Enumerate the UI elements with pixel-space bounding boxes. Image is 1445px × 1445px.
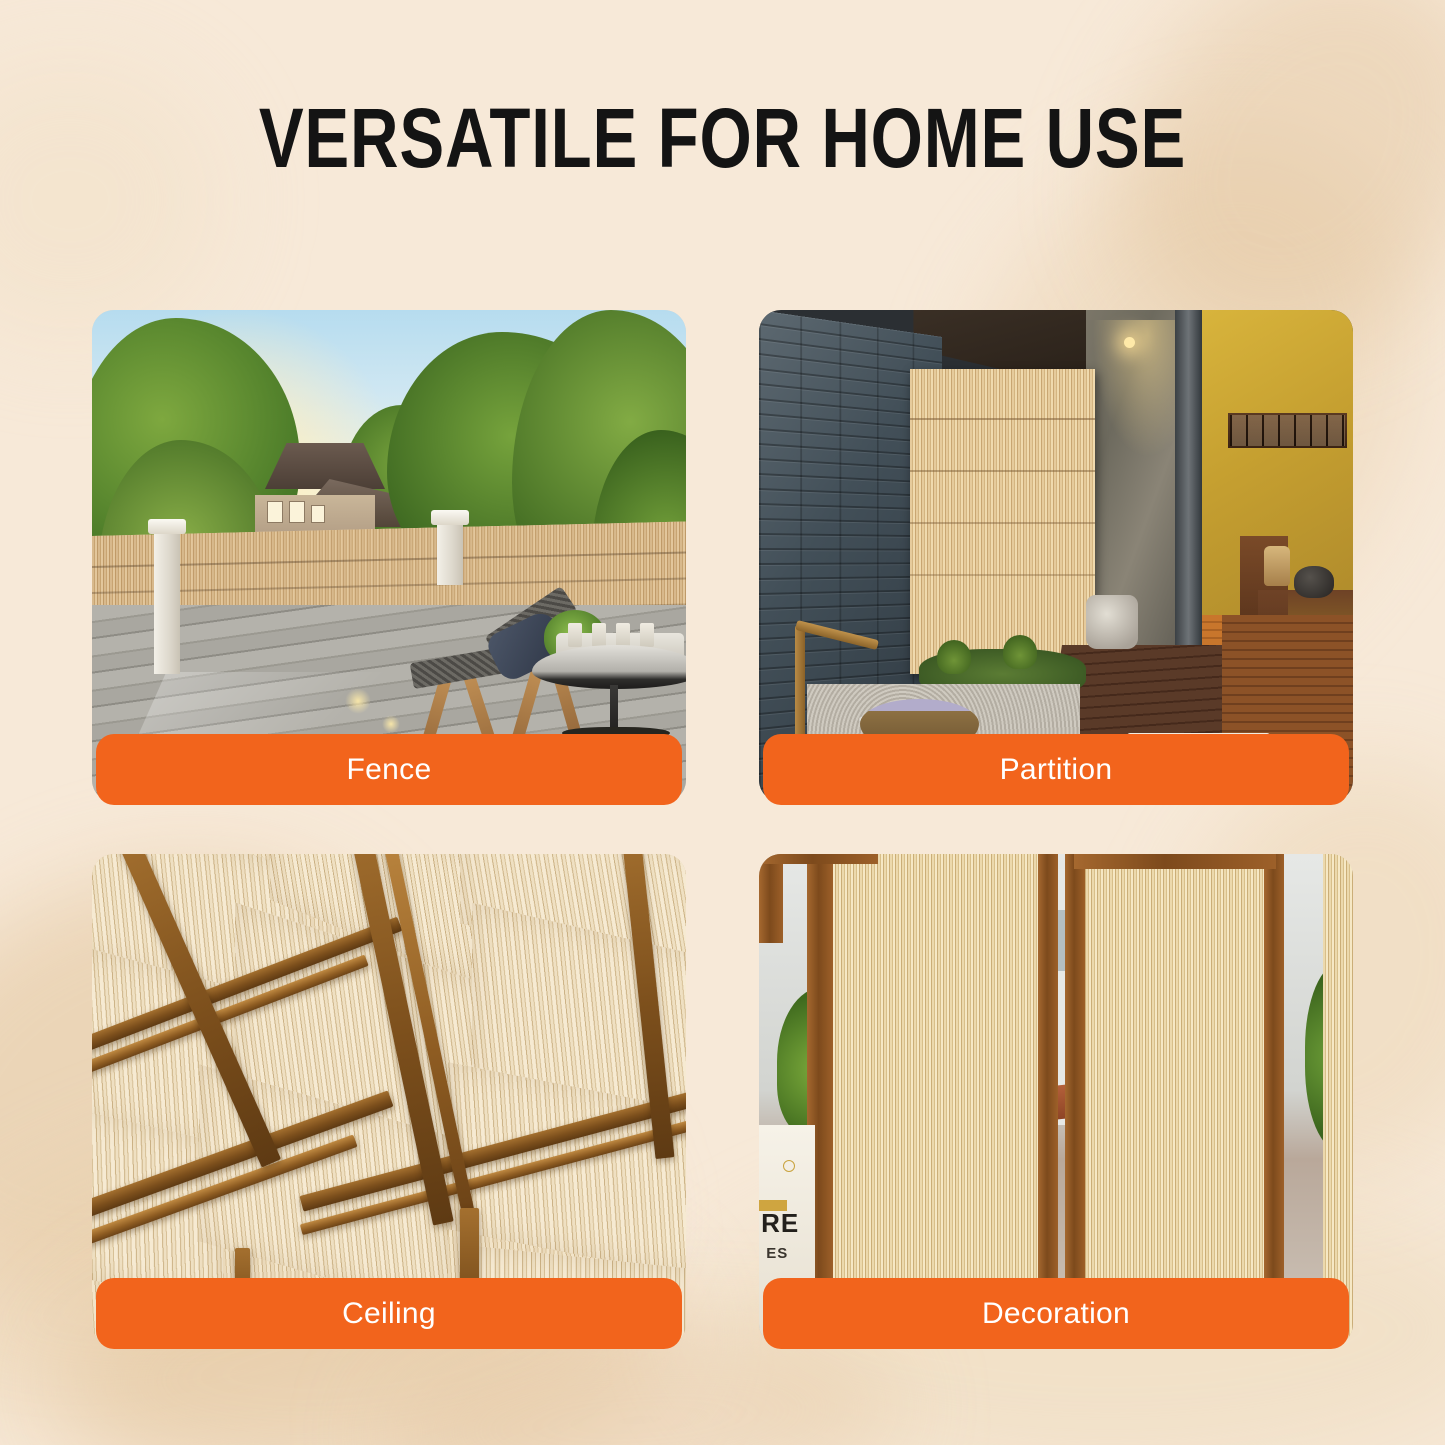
stone-water-basin	[1086, 595, 1138, 649]
ornamental-grass	[937, 640, 971, 674]
card-label-partition[interactable]: Partition	[763, 734, 1349, 805]
feature-card-ceiling[interactable]: Ceiling	[92, 854, 686, 1346]
lens-flare-icon	[345, 688, 371, 714]
wall-shelf	[1228, 413, 1347, 447]
feature-card-fence[interactable]: Fence	[92, 310, 686, 802]
sign-accent-bar	[759, 1200, 787, 1211]
card-label-text: Ceiling	[342, 1297, 436, 1331]
window	[267, 501, 283, 523]
page-title: VERSATILE FOR HOME USE	[145, 96, 1301, 180]
card-label-fence[interactable]: Fence	[96, 734, 682, 805]
photo-fence	[92, 310, 686, 802]
card-label-text: Decoration	[982, 1297, 1130, 1331]
reed-screen-panel	[1323, 854, 1353, 1341]
photo-partition	[759, 310, 1353, 802]
wooden-frame-post	[1065, 854, 1085, 1346]
sign-badge-icon	[783, 1160, 795, 1172]
wooden-frame-post	[1038, 854, 1058, 1346]
card-label-ceiling[interactable]: Ceiling	[96, 1278, 682, 1349]
wooden-frame-rail	[1074, 854, 1276, 869]
sign-text-primary: RE	[761, 1208, 799, 1239]
feature-card-partition[interactable]: Partition	[759, 310, 1353, 802]
cup	[592, 623, 606, 647]
card-label-text: Partition	[1000, 753, 1113, 787]
reed-screen-panel	[830, 854, 1044, 1346]
card-label-decoration[interactable]: Decoration	[763, 1278, 1349, 1349]
sign-text-secondary: ES	[766, 1245, 788, 1262]
feature-grid: Fence	[92, 310, 1353, 1346]
cup	[640, 623, 654, 647]
ceramic-jar	[1264, 546, 1290, 586]
table-stem	[610, 685, 618, 733]
wooden-frame-post	[759, 854, 783, 943]
iron-kettle	[1294, 566, 1334, 598]
fence-post	[437, 523, 463, 585]
wooden-frame-rail	[759, 854, 878, 864]
roof	[265, 443, 385, 489]
photo-ceiling	[92, 854, 686, 1346]
ornamental-grass	[1003, 635, 1037, 669]
wooden-frame-post	[1264, 854, 1284, 1346]
reed-screen-partition	[910, 369, 1094, 674]
photo-decoration: RE ES	[759, 854, 1353, 1346]
reed-screen-panel	[1080, 854, 1270, 1341]
feature-card-decoration[interactable]: RE ES Decoration	[759, 854, 1353, 1346]
cup	[616, 623, 630, 647]
card-label-text: Fence	[347, 753, 432, 787]
lens-flare-icon	[382, 715, 400, 733]
window	[289, 501, 305, 523]
window	[311, 505, 325, 523]
cup	[568, 623, 582, 647]
fence-post	[154, 532, 180, 674]
